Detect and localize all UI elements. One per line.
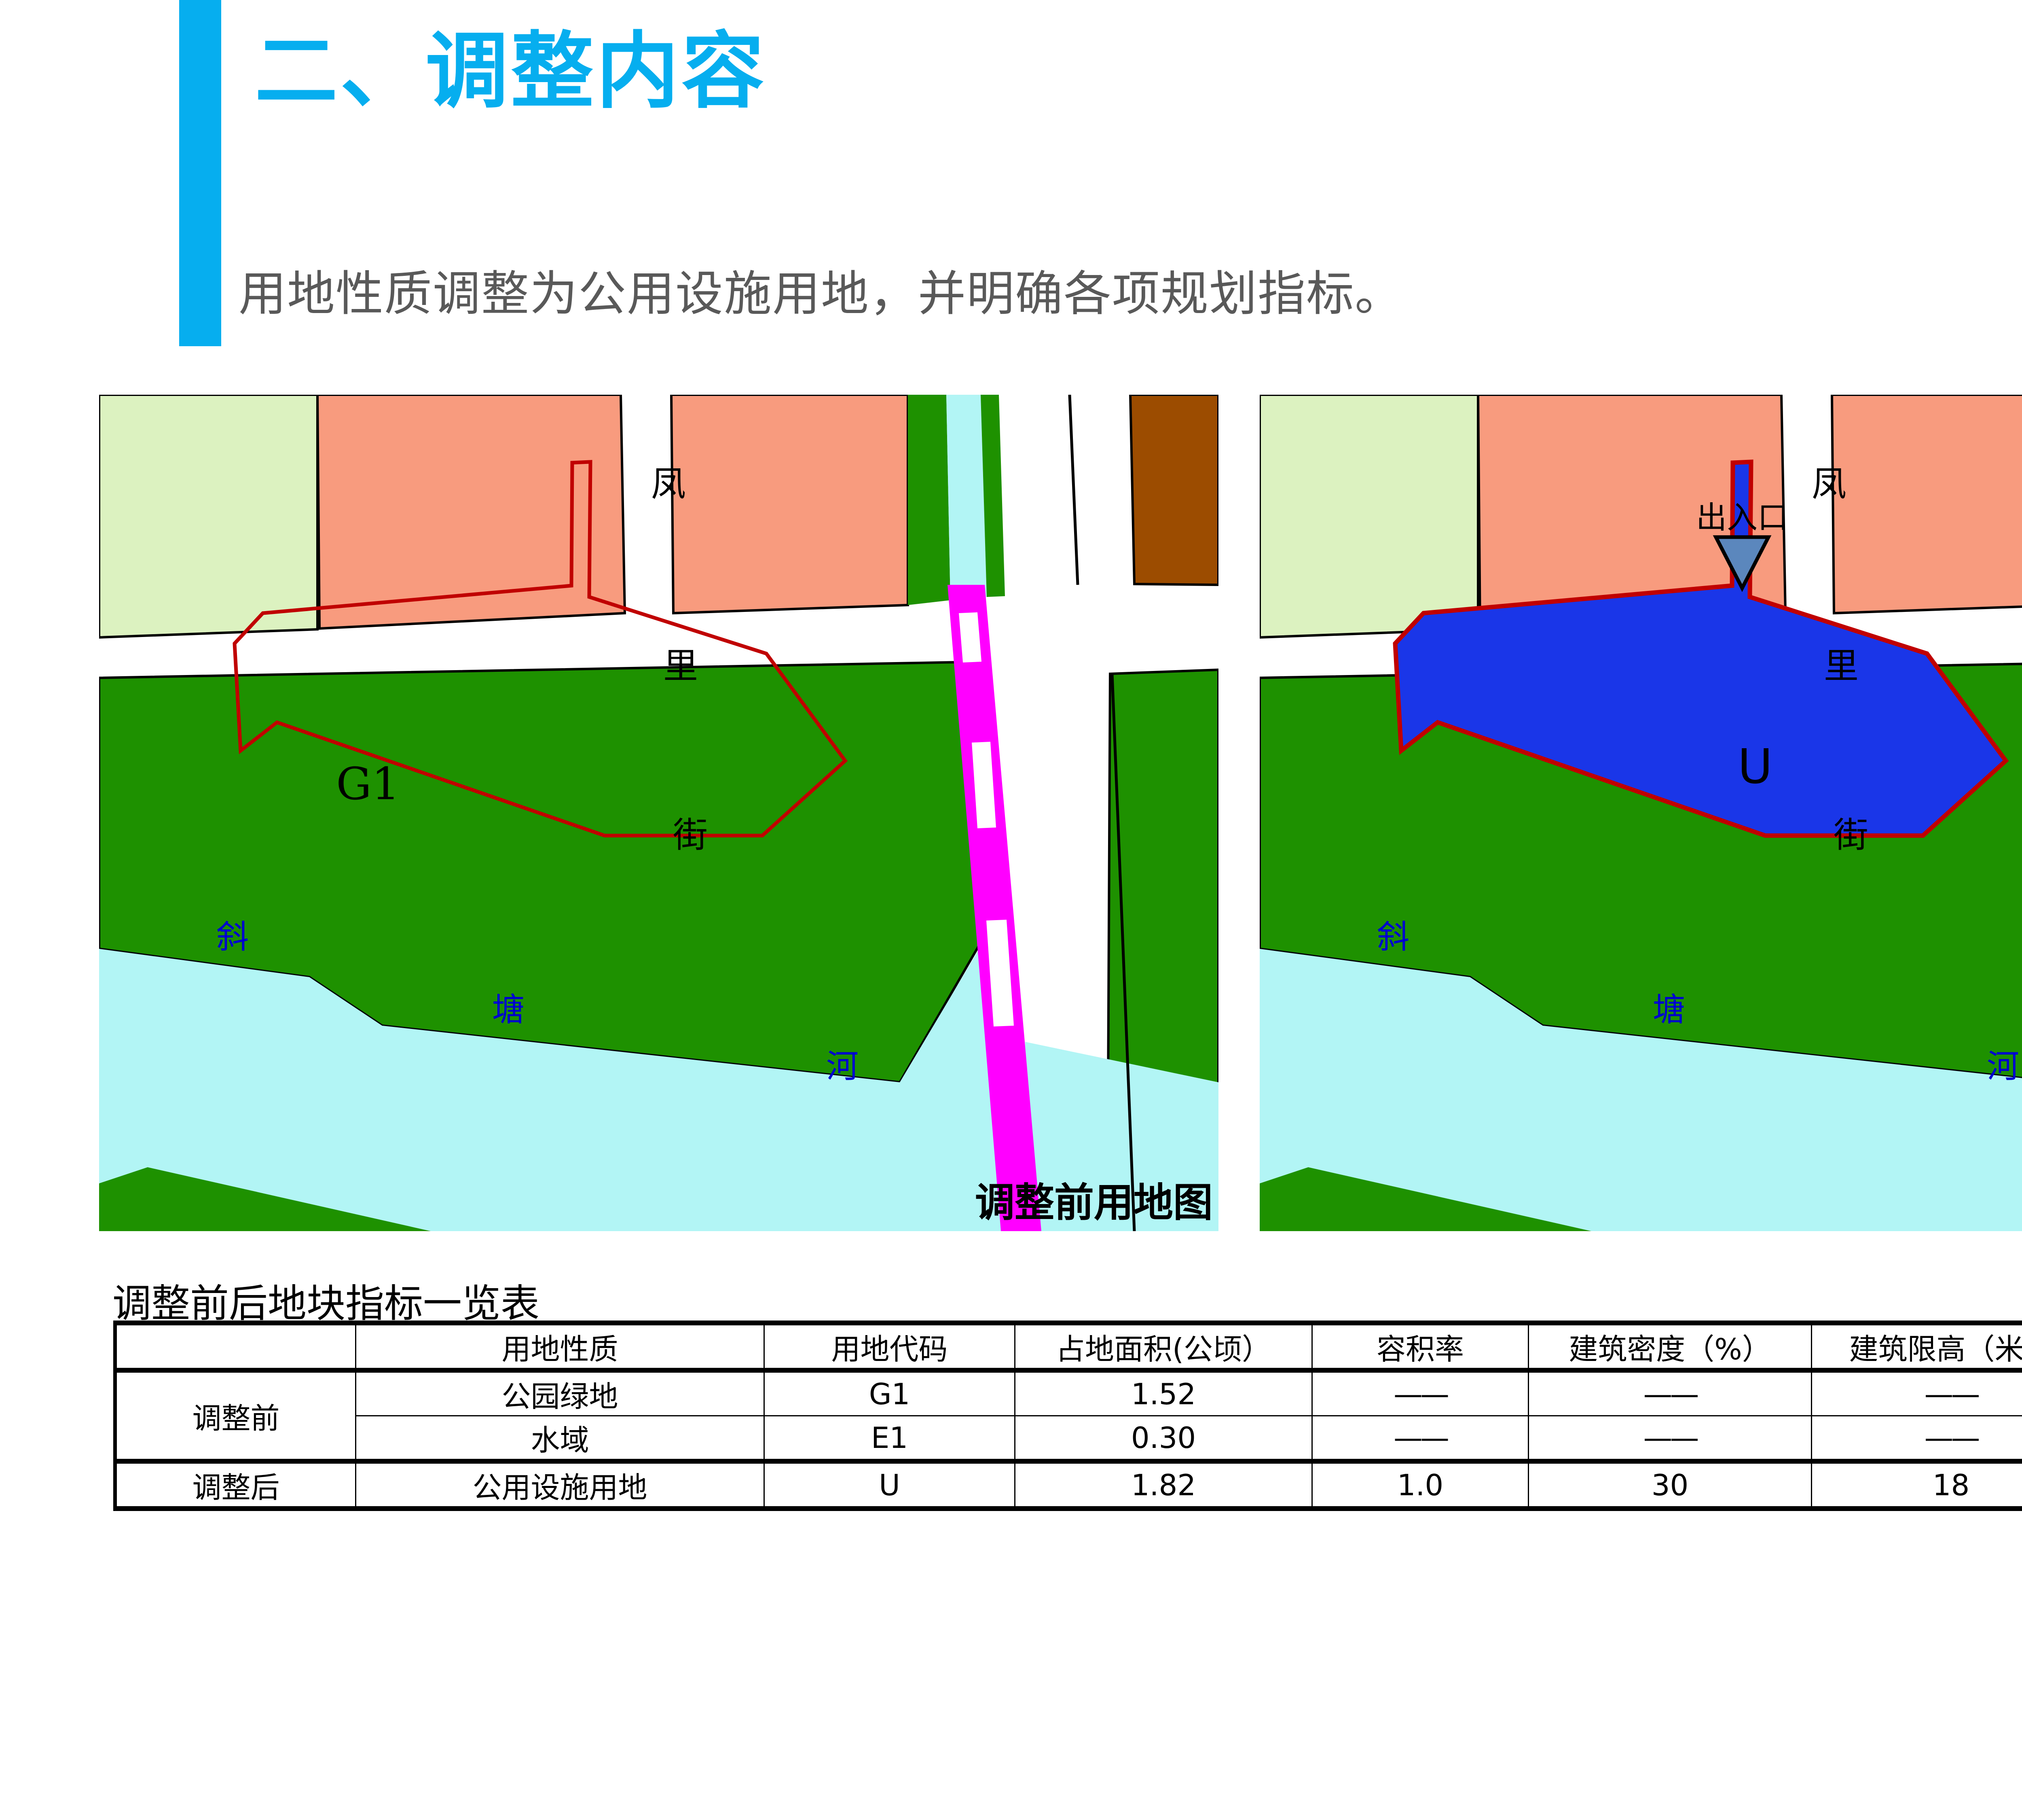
landuse-park-green-east xyxy=(1108,670,1218,1096)
landuse-light-green-block xyxy=(99,395,317,637)
cell-density: —— xyxy=(1529,1416,1812,1462)
header-cell-area: 占地面积(公顷） xyxy=(1015,1323,1312,1370)
map-after-adjustment[interactable]: 出入口 U 凤 里 街 斜 塘 河 调整后用地图 xyxy=(1260,395,2022,1231)
table-row: 调整前 公园绿地 G1 1.52 —— —— —— —— xyxy=(115,1370,2022,1416)
landuse-residential-block-2 xyxy=(671,395,908,613)
entrance-label: 出入口 xyxy=(1696,499,1788,535)
cell-area: 1.82 xyxy=(1015,1461,1312,1509)
map-after-svg: 出入口 U 凤 里 街 斜 塘 河 xyxy=(1260,395,2022,1231)
header-cell-code: 用地代码 xyxy=(764,1323,1015,1370)
table-row: 调整后 公用设施用地 U 1.82 1.0 30 18 30 xyxy=(115,1461,2022,1509)
map-before-adjustment[interactable]: G1 凤 里 街 斜 塘 河 调整前用地图 xyxy=(99,395,1218,1231)
row-group-label-before: 调整前 xyxy=(115,1370,356,1461)
cell-nature: 水域 xyxy=(356,1416,764,1462)
map-before-svg: G1 凤 里 街 斜 塘 河 xyxy=(99,395,1218,1231)
header-cell-density: 建筑密度（%） xyxy=(1529,1323,1812,1370)
landuse-green-strip-top xyxy=(908,395,950,605)
cell-area: 0.30 xyxy=(1015,1416,1312,1462)
table-caption: 调整前后地块指标一览表 xyxy=(112,1272,539,1328)
header-accent-bar xyxy=(179,0,221,346)
row-group-label-after: 调整后 xyxy=(115,1461,356,1509)
river-label-char-1: 斜 xyxy=(1377,918,1409,956)
page-subtitle: 用地性质调整为公用设施用地，并明确各项规划指标。 xyxy=(239,255,1403,324)
cell-height: —— xyxy=(1812,1370,2022,1416)
water-strip-top xyxy=(946,395,987,600)
street-label-char-3: 街 xyxy=(1834,815,1868,855)
cell-area: 1.52 xyxy=(1015,1370,1312,1416)
cell-far: 1.0 xyxy=(1312,1461,1529,1509)
street-label-char-2: 里 xyxy=(663,646,698,686)
indicator-table: 用地性质 用地代码 占地面积(公顷） 容积率 建筑密度（%） 建筑限高（米） 绿… xyxy=(113,1321,2022,1511)
landuse-light-green-block xyxy=(1260,395,1478,637)
street-label-char-2: 里 xyxy=(1824,646,1859,686)
table-row: 水域 E1 0.30 —— —— —— —— xyxy=(115,1416,2022,1462)
cell-code: E1 xyxy=(764,1416,1015,1462)
table-header-row: 用地性质 用地代码 占地面积(公顷） 容积率 建筑密度（%） 建筑限高（米） 绿… xyxy=(115,1323,2022,1370)
cell-height: —— xyxy=(1812,1416,2022,1462)
landuse-residential-block-2 xyxy=(1832,395,2022,613)
header-cell-blank xyxy=(115,1323,356,1370)
cell-code: U xyxy=(764,1461,1015,1509)
parcel-label-u: U xyxy=(1738,739,1772,794)
street-label-char-1: 凤 xyxy=(651,464,686,504)
river-label-char-2: 塘 xyxy=(1653,991,1685,1029)
cell-far: —— xyxy=(1312,1416,1529,1462)
cell-nature: 公用设施用地 xyxy=(356,1461,764,1509)
street-label-char-3: 街 xyxy=(673,815,708,855)
parcel-label-g1: G1 xyxy=(336,758,400,810)
cell-nature: 公园绿地 xyxy=(356,1370,764,1416)
header-cell-height: 建筑限高（米） xyxy=(1812,1323,2022,1370)
cell-density: —— xyxy=(1529,1370,1812,1416)
river-label-char-2: 塘 xyxy=(492,991,525,1029)
river-label-char-3: 河 xyxy=(826,1048,859,1085)
river-label-char-3: 河 xyxy=(1987,1048,2019,1085)
cell-code: G1 xyxy=(764,1370,1015,1416)
landuse-brown-block xyxy=(1130,395,1218,585)
river-label-char-1: 斜 xyxy=(216,918,249,956)
page-title: 二、调整内容 xyxy=(255,30,767,113)
cell-density: 30 xyxy=(1529,1461,1812,1509)
header-cell-nature: 用地性质 xyxy=(356,1323,764,1370)
street-label-char-1: 凤 xyxy=(1812,464,1846,504)
header-cell-far: 容积率 xyxy=(1312,1323,1529,1370)
map-before-caption: 调整前用地图 xyxy=(975,1170,1213,1228)
cell-height: 18 xyxy=(1812,1461,2022,1509)
cell-far: —— xyxy=(1312,1370,1529,1416)
